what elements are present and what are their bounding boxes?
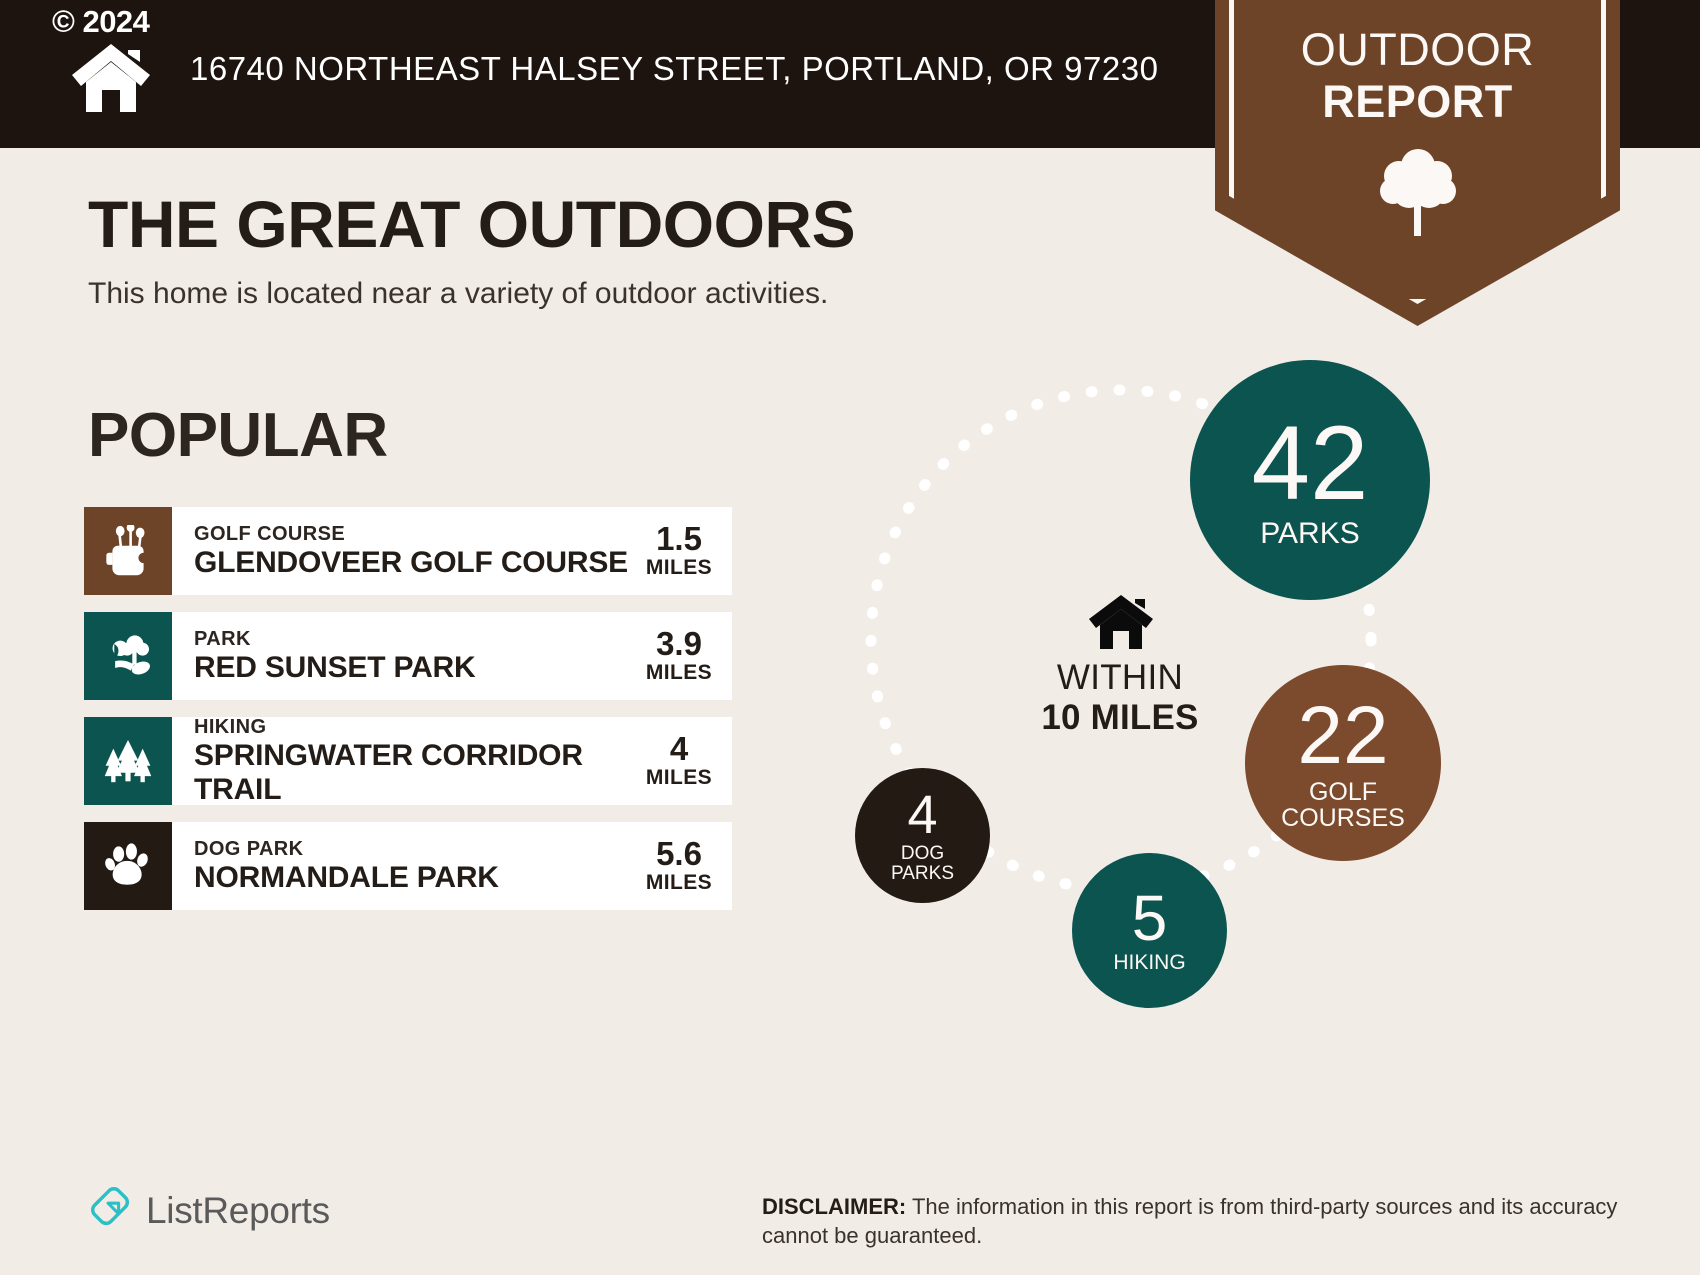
copyright-label: © 2024 (52, 4, 149, 40)
outdoor-report-badge: OUTDOOR REPORT (1215, 0, 1620, 326)
pine-trees-icon (84, 717, 172, 805)
list-item-distance: 3.9 MILES (640, 627, 718, 685)
golf-label-line1: GOLF (1309, 779, 1377, 805)
dog-parks-label-line2: PARKS (891, 864, 954, 884)
list-item-text: GOLF COURSE GLENDOVEER GOLF COURSE (194, 522, 628, 580)
property-address: 16740 NORTHEAST HALSEY STREET, PORTLAND,… (190, 50, 1158, 88)
center-label-line1: WITHIN (970, 658, 1270, 698)
list-item-category: PARK (194, 627, 475, 651)
list-item-body: DOG PARK NORMANDALE PARK 5.6 MILES (172, 822, 732, 910)
list-item-text: DOG PARK NORMANDALE PARK (194, 837, 499, 895)
badge-title-line2: REPORT (1215, 76, 1620, 128)
list-item-text: HIKING SPRINGWATER CORRIDOR TRAIL (194, 715, 640, 807)
page-title: THE GREAT OUTDOORS (88, 186, 855, 262)
popular-list: GOLF COURSE GLENDOVEER GOLF COURSE 1.5 M… (84, 507, 732, 927)
list-item-category: DOG PARK (194, 837, 499, 861)
popular-heading: POPULAR (88, 400, 388, 471)
list-item-name: GLENDOVEER GOLF COURSE (194, 546, 628, 580)
listreports-house-logo-icon (88, 1186, 132, 1235)
badge-title-line1: OUTDOOR (1215, 24, 1620, 76)
list-item[interactable]: HIKING SPRINGWATER CORRIDOR TRAIL 4 MILE… (84, 717, 732, 805)
house-icon (70, 42, 152, 114)
parks-count: 42 (1252, 411, 1369, 516)
listreports-logo[interactable]: ListReports (88, 1186, 330, 1235)
stat-bubble-parks[interactable]: 42 PARKS (1190, 360, 1430, 600)
hiking-count: 5 (1132, 886, 1168, 950)
list-item-distance: 4 MILES (640, 732, 718, 790)
disclaimer-label: DISCLAIMER: (762, 1194, 906, 1219)
golf-label-line2: COURSES (1281, 805, 1405, 831)
list-item-body: HIKING SPRINGWATER CORRIDOR TRAIL 4 MILE… (172, 717, 732, 805)
dog-parks-label-line1: DOG (901, 844, 944, 864)
tree-icon (1373, 144, 1463, 239)
distance-value: 3.9 (640, 627, 718, 661)
center-radius-label: WITHIN 10 MILES (970, 658, 1270, 738)
disclaimer: DISCLAIMER: The information in this repo… (762, 1192, 1642, 1250)
stat-bubble-dog-parks[interactable]: 4 DOG PARKS (855, 768, 990, 903)
page-subtitle: This home is located near a variety of o… (88, 277, 828, 311)
golf-count: 22 (1297, 695, 1388, 777)
distance-value: 5.6 (640, 837, 718, 871)
distance-value: 1.5 (640, 522, 718, 556)
within-10-miles-chart: WITHIN 10 MILES 42 PARKS 22 GOLF COURSES… (830, 340, 1530, 1020)
list-item-name: SPRINGWATER CORRIDOR TRAIL (194, 739, 640, 807)
distance-value: 4 (640, 732, 718, 766)
distance-unit: MILES (640, 556, 718, 580)
list-item-text: PARK RED SUNSET PARK (194, 627, 475, 685)
list-item-category: GOLF COURSE (194, 522, 628, 546)
listreports-wordmark: ListReports (146, 1190, 330, 1232)
stat-bubble-golf-courses[interactable]: 22 GOLF COURSES (1245, 665, 1441, 861)
distance-unit: MILES (640, 661, 718, 685)
badge-title: OUTDOOR REPORT (1215, 24, 1620, 128)
list-item[interactable]: PARK RED SUNSET PARK 3.9 MILES (84, 612, 732, 700)
distance-unit: MILES (640, 871, 718, 895)
center-label-line2: 10 MILES (970, 698, 1270, 738)
hiking-label: HIKING (1113, 952, 1185, 974)
list-item-body: PARK RED SUNSET PARK 3.9 MILES (172, 612, 732, 700)
list-item[interactable]: GOLF COURSE GLENDOVEER GOLF COURSE 1.5 M… (84, 507, 732, 595)
list-item-distance: 5.6 MILES (640, 837, 718, 895)
paw-print-icon (84, 822, 172, 910)
list-item-name: RED SUNSET PARK (194, 651, 475, 685)
dog-parks-count: 4 (907, 788, 937, 842)
list-item-body: GOLF COURSE GLENDOVEER GOLF COURSE 1.5 M… (172, 507, 732, 595)
house-icon (1087, 593, 1155, 651)
stat-bubble-hiking[interactable]: 5 HIKING (1072, 853, 1227, 1008)
parks-label: PARKS (1260, 518, 1359, 550)
list-item[interactable]: DOG PARK NORMANDALE PARK 5.6 MILES (84, 822, 732, 910)
list-item-name: NORMANDALE PARK (194, 861, 499, 895)
distance-unit: MILES (640, 766, 718, 790)
park-tree-icon (84, 612, 172, 700)
list-item-distance: 1.5 MILES (640, 522, 718, 580)
list-item-category: HIKING (194, 715, 640, 739)
golf-bag-icon (84, 507, 172, 595)
